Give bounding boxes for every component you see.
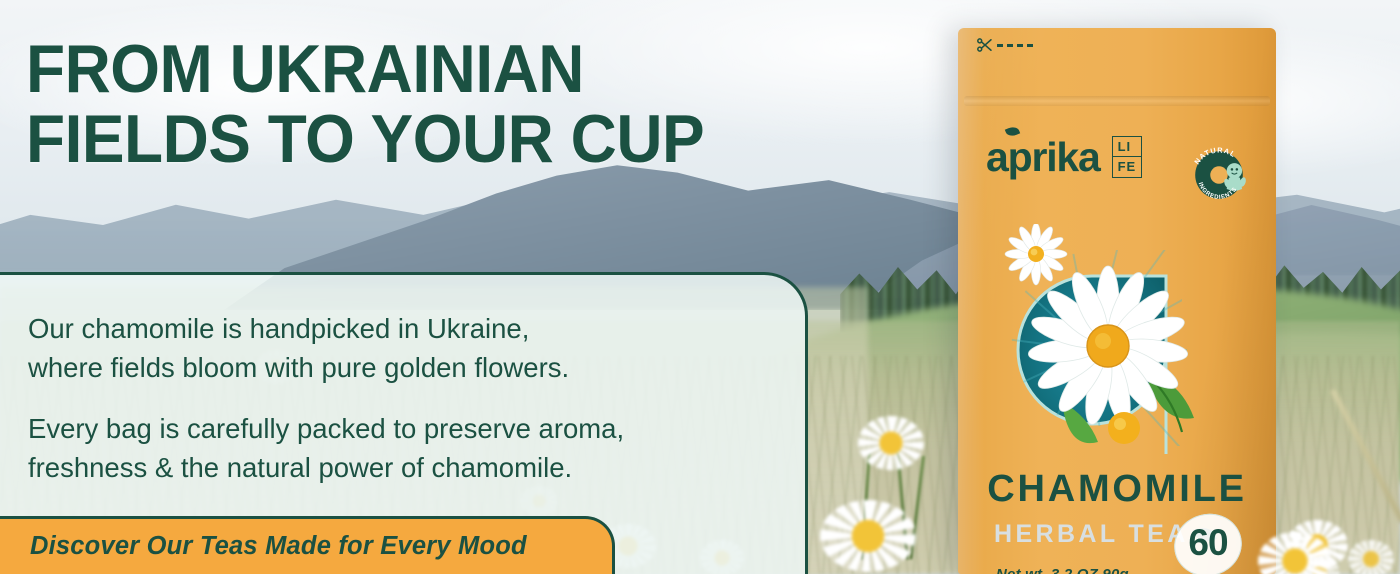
- chamomile-product-motif: [996, 224, 1204, 472]
- net-weight: Net wt. 3.2 OZ 90g.: [996, 566, 1133, 574]
- discover-teas-cta-button[interactable]: Discover Our Teas Made for Every Mood: [0, 516, 615, 574]
- dashed-cut-line: [997, 44, 1033, 47]
- paragraph-1-line-1: Our chamomile is handpicked in Ukraine,: [28, 309, 768, 348]
- headline-line-1: FROM UKRAINIAN: [26, 34, 872, 104]
- product-name: CHAMOMILE: [958, 470, 1276, 508]
- paragraph-2-line-1: Every bag is carefully packed to preserv…: [28, 409, 768, 448]
- headline-line-2: FIELDS TO YOUR CUP: [26, 104, 872, 174]
- scissors-icon: [976, 36, 994, 54]
- cut-here-marker: [976, 36, 1033, 54]
- chamomile-flower: [820, 500, 916, 572]
- chamomile-bud: [1108, 412, 1140, 444]
- description-paragraph-1: Our chamomile is handpicked in Ukraine, …: [28, 309, 768, 387]
- promo-banner: FROM UKRAINIAN FIELDS TO YOUR CUP Our ch…: [0, 0, 1400, 574]
- teabags-count-badge: 60 teabags: [1166, 514, 1250, 574]
- pouch-zip-seam: [964, 96, 1270, 106]
- chamomile-flower: [858, 416, 924, 470]
- product-subtitle: HERBAL TEA: [994, 522, 1189, 547]
- page-title: FROM UKRAINIAN FIELDS TO YOUR CUP: [26, 34, 872, 174]
- teabags-count: 60: [1166, 524, 1250, 561]
- brand-logo: aprika LI FE: [986, 136, 1142, 178]
- brand-name: aprika: [986, 137, 1100, 178]
- brand-suffix-top: LI: [1113, 137, 1142, 157]
- paragraph-2-line-2: freshness & the natural power of chamomi…: [28, 448, 768, 487]
- brand-suffix-bottom: FE: [1113, 157, 1142, 177]
- brand-suffix-life: LI FE: [1112, 136, 1143, 178]
- paragraph-1-line-2: where fields bloom with pure golden flow…: [28, 348, 768, 387]
- description-text: Our chamomile is handpicked in Ukraine, …: [28, 309, 768, 487]
- small-chamomile-flower: [1005, 224, 1067, 285]
- product-pouch: aprika LI FE: [958, 28, 1276, 574]
- natural-ingredients-badge: NATURAL INGREDIENTS: [1184, 140, 1254, 210]
- cta-label: Discover Our Teas Made for Every Mood: [30, 532, 527, 561]
- chamomile-flower: [1348, 540, 1394, 574]
- description-paragraph-2: Every bag is carefully packed to preserv…: [28, 409, 768, 487]
